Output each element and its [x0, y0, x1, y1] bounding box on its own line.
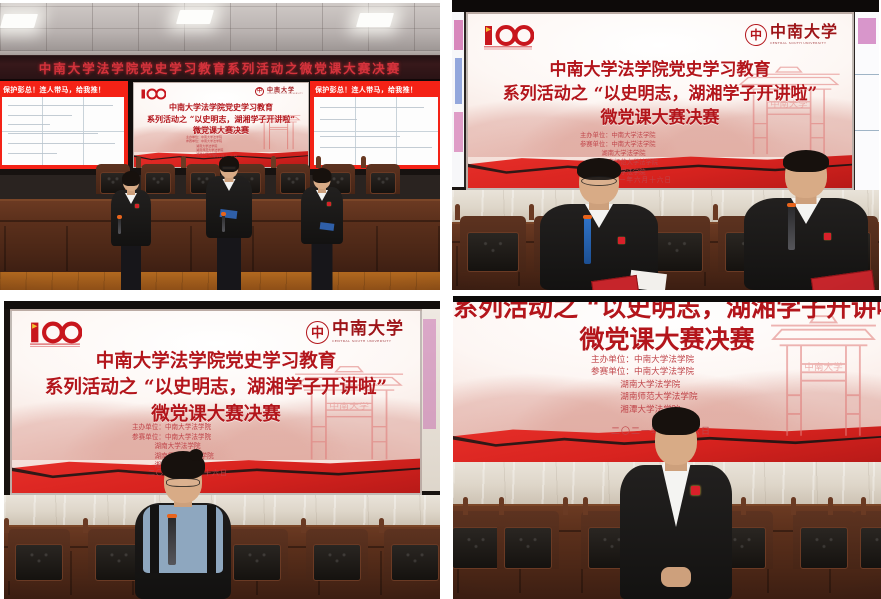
participants-row: 参赛单位：中南大学法学院 [580, 140, 658, 149]
backdrop-title-line2: 系列活动之 “以史明志，湖湘学子开讲啦” [36, 375, 395, 401]
bench-finial [861, 497, 866, 515]
photo-top-right: 中南大学 中 中南大学 CENTR [452, 0, 879, 290]
backdrop-title-small: 中南大学法学院党史学习教育 系列活动之 “以史明志，湖湘学子开讲啦” 微党课大赛… [144, 102, 297, 137]
screen-text-line [320, 136, 399, 137]
host-value: 中南大学法学院 [611, 132, 655, 139]
party-emblem-badge [824, 233, 831, 240]
judge-chair [793, 511, 855, 569]
host-label: 主办单位： [580, 132, 611, 139]
participants-label: 参赛单位： [186, 139, 201, 143]
participants-row: 参赛单位：中南大学法学院 [132, 433, 214, 443]
cpc-100-emblem-svg [482, 23, 534, 51]
screen-text-line [8, 124, 49, 125]
hands-clasped [661, 567, 691, 587]
backdrop-title-main: 中南大学法学院党史学习教育 系列活动之 “以史明志，湖湘学子开讲啦” 微党课大赛… [36, 349, 395, 428]
person-male-host-right [738, 154, 874, 290]
wall-calligraphy [423, 319, 436, 429]
participant-1: 中南大学法学院 [634, 367, 694, 377]
person-host-right [298, 168, 346, 290]
cpc-100-emblem [482, 23, 534, 51]
csu-logo-text: 中南大学 CENTRAL SOUTH UNIVERSITY [770, 24, 838, 45]
csu-logo-small: 中 中南大学 CENTRAL SOUTH UNIVERSITY [255, 87, 303, 96]
screen-text-line [8, 115, 71, 116]
screen-seam [855, 74, 879, 75]
bench-finial [361, 156, 366, 168]
scene-female-speaker-blue: 中南大学 中 中南大学 CENTR [4, 301, 440, 599]
projector-screen-right: 保护彭总！连人带马，给我推！ [310, 81, 440, 169]
bench-finial [83, 518, 88, 533]
csu-logo-text: 中南大学 CENTRAL SOUTH UNIVERSITY [267, 88, 303, 96]
host-row: 主办单位：中南大学法学院 [591, 354, 698, 366]
scene-two-hosts: 中南大学 中 中南大学 CENTR [452, 0, 879, 290]
person-female-speaker [128, 449, 238, 599]
bench-finial [136, 156, 141, 168]
bench-finial [583, 497, 588, 515]
projector-screen-left-title: 保护彭总！连人带马，给我推！ [0, 83, 126, 96]
hall-banner-text: 中南大学法学院党史学习教育系列活动之微党课大赛决赛 [39, 58, 402, 77]
backdrop-title-line1: 中南大学法学院党史学习教育 [144, 102, 297, 114]
person-female-speaker-suit [613, 403, 739, 599]
csu-logo-cn: 中南大学 [332, 321, 404, 338]
bench-finial [499, 497, 504, 515]
backdrop-title-main: 中南大学法学院党史学习教育 系列活动之 “以史明志，湖湘学子开讲啦” 微党课大赛… [491, 58, 829, 130]
hair [313, 168, 332, 183]
participants-label: 参赛单位： [591, 367, 634, 377]
bench-finial [455, 204, 460, 220]
party-emblem-badge [327, 202, 331, 206]
csu-logo-cn: 中南大学 [770, 24, 838, 40]
participant-2: 湖南大学法学院 [591, 379, 698, 391]
bench-finial [791, 497, 796, 515]
screen-text-line [320, 147, 432, 148]
judge-chair [384, 529, 440, 581]
cpc-100-emblem [28, 319, 82, 349]
microphone [788, 206, 795, 250]
host-label: 主办单位： [591, 355, 634, 365]
microphone [584, 218, 591, 264]
hair-bun [189, 449, 203, 461]
glasses [581, 176, 617, 186]
bench-finial [301, 518, 306, 533]
judge-chair [306, 529, 368, 581]
screen-text-line [320, 119, 357, 120]
participants-label: 参赛单位： [580, 141, 611, 148]
upper-dark-wall [4, 301, 440, 309]
cpc-100-emblem [140, 87, 166, 101]
overall-strap-right [207, 505, 216, 573]
screen-seam [314, 131, 438, 132]
scene-auditorium-wide: 中南大学法学院党史学习教育系列活动之微党课大赛决赛 保护彭总！连人带马，给我推！ [0, 3, 440, 290]
screen-scribble [858, 18, 876, 44]
bench-finial [379, 518, 384, 533]
party-emblem-badge [618, 237, 625, 244]
host-value: 中南大学法学院 [165, 423, 211, 431]
participants-row: 参赛单位：中南大学法学院 [591, 366, 698, 378]
backdrop-title-line1: 中南大学法学院党史学习教育 [36, 349, 395, 375]
cpc-100-emblem-svg [28, 319, 82, 349]
side-wall-right [420, 309, 440, 491]
ceiling-light [0, 14, 38, 28]
judge-chair [497, 511, 559, 569]
screen-text-line [8, 143, 115, 144]
microphone [222, 215, 225, 232]
screen-seam [855, 130, 879, 131]
photo-top-left: 中南大学法学院党史学习教育系列活动之微党课大赛决赛 保护彭总！连人带马，给我推！ [0, 3, 440, 290]
csu-logo-mark: 中 [745, 24, 767, 46]
projector-screen-right-content [314, 97, 438, 165]
projector-screen-right-title: 保护彭总！连人带马，给我推！ [312, 83, 440, 96]
host-label: 主办单位： [132, 423, 165, 431]
person-host-center [203, 156, 255, 290]
ceiling-grid [0, 3, 440, 51]
participant-3: 湖南师范大学法学院 [591, 391, 698, 403]
participant-2: 湖南大学法学院 [580, 149, 658, 158]
hair [652, 407, 700, 435]
screen-text-line [320, 107, 424, 108]
hair [783, 150, 829, 172]
person-male-host-left [534, 162, 664, 290]
bench-finial [828, 497, 833, 515]
backdrop-title-line1: 中南大学法学院党史学习教育 [491, 58, 829, 82]
screen-scribble [454, 112, 463, 152]
svg-text:中南大学: 中南大学 [804, 361, 842, 373]
bench-finial [271, 156, 276, 168]
screen-text-line [8, 105, 113, 106]
bench-finial [713, 204, 718, 220]
host-value: 中南大学法学院 [634, 355, 694, 365]
judge-chair [853, 511, 881, 569]
backdrop-title-cropped-line3: 微党课大赛决赛 [453, 320, 881, 356]
upper-dark-wall [452, 0, 879, 12]
bench-finial [463, 497, 468, 515]
csu-logo-text: 中南大学 CENTRAL SOUTH UNIVERSITY [332, 321, 404, 343]
microphone [118, 218, 121, 234]
projector-screen-left: 保护彭总！连人带马，给我推！ [0, 81, 128, 169]
bench-finial [741, 497, 746, 515]
overall-strap-left [150, 505, 159, 573]
party-emblem-badge [135, 204, 139, 208]
participant-1: 中南大学法学院 [611, 141, 655, 148]
projector-screen-left-content [2, 97, 124, 165]
hair [122, 171, 140, 186]
hall-banner: 中南大学法学院党史学习教育系列活动之微党课大赛决赛 [0, 55, 440, 80]
party-emblem-badge [691, 486, 700, 495]
person-host-left [108, 170, 154, 290]
glasses [166, 478, 200, 487]
csu-logo-en: CENTRAL SOUTH UNIVERSITY [267, 94, 303, 96]
csu-logo-main: 中 中南大学 CENTRAL SOUTH UNIVERSITY [306, 321, 404, 344]
backdrop-title-line3: 微党课大赛决赛 [491, 106, 829, 130]
csu-logo-en: CENTRAL SOUTH UNIVERSITY [770, 43, 838, 46]
photo-collage: 中南大学法学院党史学习教育系列活动之微党课大赛决赛 保护彭总！连人带马，给我推！ [0, 0, 881, 599]
glasses [222, 166, 237, 170]
csu-logo-main: 中 中南大学 CENTRAL SOUTH UNIVERSITY [745, 24, 838, 46]
screen-scribble [454, 20, 463, 50]
side-screen-left [452, 12, 466, 187]
judge-chair [8, 529, 70, 581]
backdrop-title-line2: 系列活动之 “以史明志，湖湘学子开讲啦” [453, 302, 881, 322]
bench-finial [563, 497, 568, 515]
host-row: 主办单位：中南大学法学院 [132, 423, 214, 433]
screen-text-line [8, 133, 98, 134]
scene-female-speaker-suit: 中南大学 系列活动之 “以史明志，湖湘学子开讲啦” 微党课大赛决赛 主办单位：中… [453, 296, 881, 599]
participant-1: 中南大学法学院 [165, 433, 211, 441]
host-row: 主办单位：中南大学法学院 [580, 131, 658, 140]
screen-seam [2, 131, 124, 132]
backdrop-title-line3: 微党课大赛决赛 [579, 325, 754, 354]
bench-finial [316, 156, 321, 168]
judge-chair [366, 164, 400, 194]
csu-logo-en: CENTRAL SOUTH UNIVERSITY [332, 341, 404, 344]
cpc-100-emblem-svg [140, 87, 166, 101]
photo-bottom-right: 中南大学 系列活动之 “以史明志，湖湘学子开讲啦” 微党课大赛决赛 主办单位：中… [453, 296, 881, 599]
ceiling-light [356, 13, 394, 27]
csu-logo-mark: 中 [306, 321, 329, 344]
photo-bottom-left: 中南大学 中 中南大学 CENTR [4, 301, 440, 599]
screen-scribble [455, 58, 462, 104]
participant-1: 中南大学法学院 [201, 139, 222, 143]
ceiling-light [176, 10, 214, 24]
bench-finial [181, 156, 186, 168]
bench-finial [4, 518, 9, 533]
backdrop-title-line3: 微党课大赛决赛 [36, 402, 395, 428]
backdrop-title-line2: 系列活动之 “以史明志，湖湘学子开讲啦” [491, 82, 829, 106]
csu-logo-mark: 中 [255, 87, 264, 96]
participants-label: 参赛单位： [132, 433, 165, 441]
judge-chair [460, 216, 526, 272]
screen-text-line [8, 153, 57, 154]
microphone [168, 517, 176, 565]
backdrop-title-line2: 系列活动之 “以史明志，湖湘学子开讲啦” [144, 114, 297, 126]
ceiling [0, 3, 440, 51]
